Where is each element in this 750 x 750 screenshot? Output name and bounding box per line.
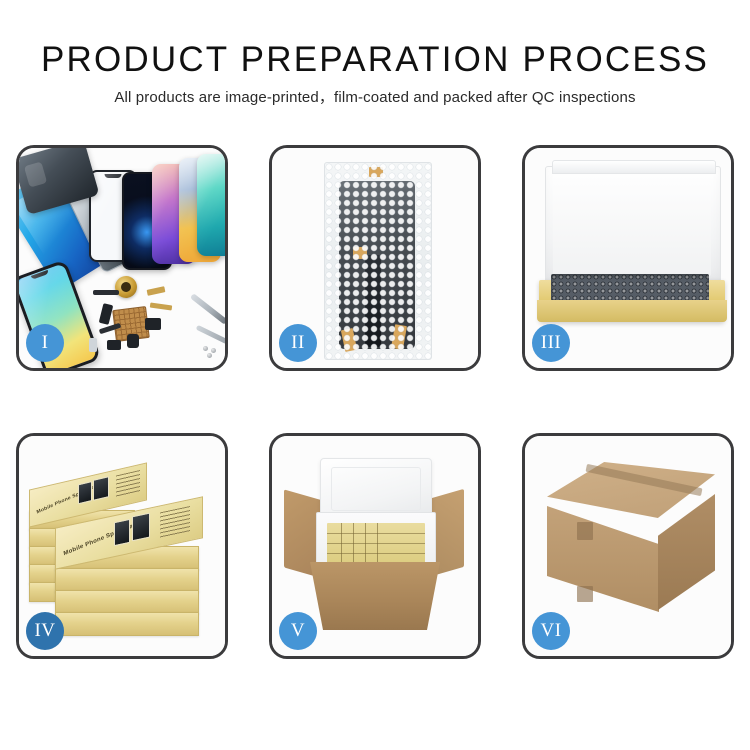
step-panel-3[interactable]: III — [522, 145, 734, 371]
page-subtitle: All products are image-printed，film-coat… — [0, 80, 750, 107]
bubble-wrap-bag — [324, 162, 432, 360]
box-spec-lines-rear — [116, 470, 140, 498]
carton-tape-lower — [577, 586, 593, 602]
process-steps-grid: I II III — [16, 145, 734, 659]
packed-grey-parts — [551, 274, 709, 302]
step-panel-2[interactable]: II — [269, 145, 481, 371]
box-spec-lines-front — [160, 506, 190, 538]
sealed-carton-right-face — [658, 494, 715, 610]
gold-contact-strip — [147, 286, 166, 296]
stacked-box-r2 — [55, 568, 199, 592]
flex-cable-part-b — [99, 303, 114, 325]
battery-connector-part — [93, 290, 119, 295]
yellow-boxes-inside — [327, 523, 425, 565]
stacked-box-r3 — [55, 590, 199, 614]
step-panel-4[interactable]: Mobile Phone Spare Parts Mobile Phone Sp… — [16, 433, 228, 659]
box-thumb-front-b — [132, 513, 150, 542]
vibrator-motor-part — [127, 334, 139, 348]
step-badge-3: III — [532, 324, 570, 362]
tweezers-tool — [190, 293, 228, 325]
step-badge-4: IV — [26, 612, 64, 650]
screw-cluster — [203, 346, 221, 358]
step-panel-5[interactable]: V — [269, 433, 481, 659]
carton-tape-upper — [577, 522, 593, 540]
step-badge-2: II — [279, 324, 317, 362]
step-badge-6: VI — [532, 612, 570, 650]
page-title: PRODUCT PREPARATION PROCESS — [0, 0, 750, 80]
white-foam-sheet — [553, 182, 711, 276]
box-thumb-rear-b — [93, 476, 109, 501]
box-thumb-rear-a — [78, 481, 92, 504]
step-panel-1[interactable]: I — [16, 145, 228, 371]
speaker-module-part — [115, 276, 137, 298]
step-badge-1: I — [26, 324, 64, 362]
shipping-carton-body — [310, 562, 440, 630]
gold-flex-strip — [150, 302, 172, 310]
small-screw-part — [89, 338, 97, 352]
yellow-box-front-flap — [537, 300, 727, 322]
bubble-texture — [325, 163, 431, 359]
sealed-carton-left-face — [547, 506, 659, 612]
step-panel-6[interactable]: VI — [522, 433, 734, 659]
phone-teal-screen — [197, 154, 228, 256]
page-header: PRODUCT PREPARATION PROCESS All products… — [0, 0, 750, 107]
box-thumb-front-a — [114, 519, 130, 546]
camera-module-part — [145, 318, 161, 330]
step-badge-5: V — [279, 612, 317, 650]
sim-tray-part — [107, 340, 121, 350]
stacked-box-r4 — [55, 612, 199, 636]
screwdriver-tool — [196, 325, 228, 344]
